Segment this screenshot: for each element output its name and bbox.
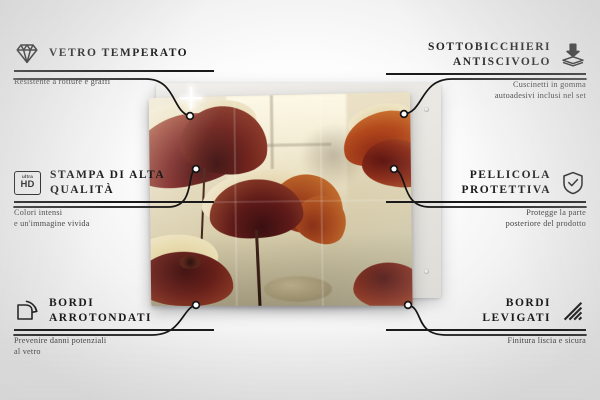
anti-slip-pad-icon [560, 42, 586, 68]
feature-callout-protective-film: PELLICOLAPROTETTIVA Protegge la parte po… [386, 168, 586, 229]
rubber-pad-icon [424, 107, 429, 112]
ultra-hd-large-label: HD [20, 180, 34, 190]
rubber-pad-icon [424, 269, 429, 274]
feature-title: SOTTOBICCHIERIANTISCIVOLO [386, 40, 551, 69]
divider [386, 329, 586, 331]
feature-callout-polished-edges: BORDILEVIGATI Finitura liscia e sicura [386, 296, 586, 346]
divider [386, 73, 586, 75]
infographic-canvas: VETRO TEMPERATO Resistente a rotture e g… [0, 0, 600, 400]
feature-subtitle: Protegge la parte posteriore del prodott… [386, 207, 586, 229]
shield-check-icon [560, 170, 586, 196]
rounded-corner-icon [14, 298, 40, 324]
feature-subtitle: Cuscinetti in gomma autoadesivi inclusi … [386, 79, 586, 101]
feature-title: BORDIARROTONDATI [49, 296, 214, 325]
feature-callout-coasters: SOTTOBICCHIERIANTISCIVOLO Cuscinetti in … [386, 40, 586, 101]
feature-title: STAMPA DI ALTAQUALITÀ [50, 168, 214, 197]
feature-callout-print: ultra HD STAMPA DI ALTAQUALITÀ Colori in… [14, 168, 214, 229]
feature-subtitle: Resistente a rotture e graffi [14, 76, 214, 87]
feature-subtitle: Prevenire danni potenziali al vetro [14, 335, 214, 357]
feature-subtitle: Colori intensi e un'immagine vivida [14, 207, 214, 229]
divider [14, 201, 214, 203]
flower-center [179, 256, 202, 269]
feature-callout-rounded-edges: BORDIARROTONDATI Prevenire danni potenzi… [14, 296, 214, 357]
feature-title: BORDILEVIGATI [386, 296, 551, 325]
ultra-hd-badge-icon: ultra HD [14, 171, 41, 195]
diamond-icon [14, 40, 40, 66]
divider [14, 70, 214, 72]
feature-title: PELLICOLAPROTETTIVA [386, 168, 551, 197]
feature-callout-tempered: VETRO TEMPERATO Resistente a rotture e g… [14, 40, 214, 87]
divider [386, 201, 586, 203]
feature-title: VETRO TEMPERATO [49, 46, 214, 61]
diagonal-stripes-icon [560, 298, 586, 324]
divider [14, 329, 214, 331]
feature-subtitle: Finitura liscia e sicura [386, 335, 586, 346]
